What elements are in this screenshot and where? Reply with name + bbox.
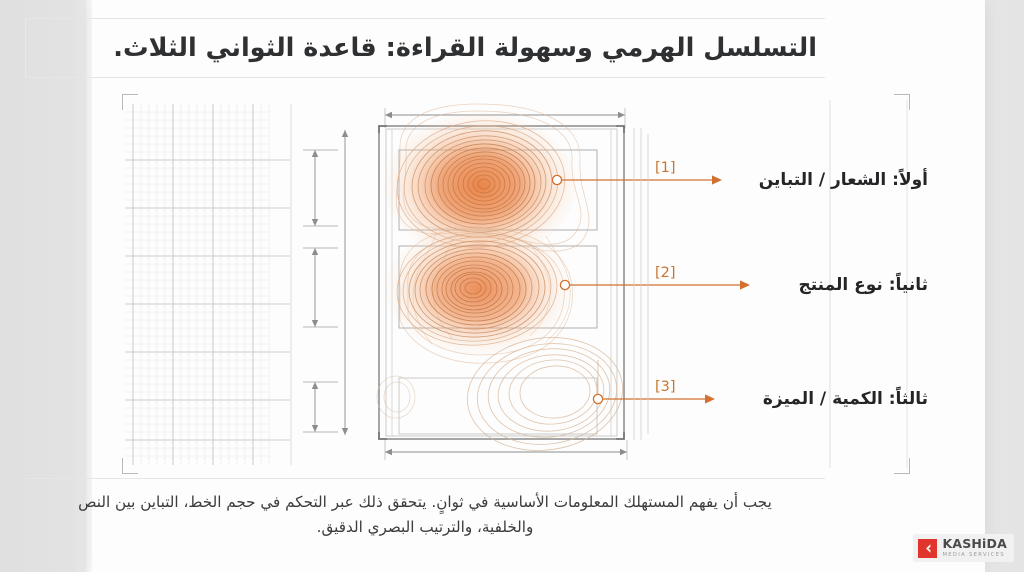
dimension-lines-vertical: [303, 130, 348, 435]
hotspot-2: [385, 223, 572, 363]
leader-lines: [552, 175, 750, 403]
annotation-marker-2: [2]: [655, 265, 676, 281]
logo-text-block: KASHiDA MEDIA SERVICES: [942, 538, 1007, 558]
technical-grid: [125, 104, 291, 465]
annotation-label-1: أولاً: الشعار / التباين: [759, 170, 928, 190]
annotation-marker-1: [1]: [655, 160, 676, 176]
brand-logo: KASHiDA MEDIA SERVICES: [913, 534, 1014, 562]
leader-dot-3: [593, 394, 602, 403]
caption-block: يجب أن يفهم المستهلك المعلومات الأساسية …: [25, 478, 825, 550]
chevron-left-icon: [918, 539, 937, 558]
annotation-marker-3: [3]: [655, 379, 676, 395]
leader-dot-1: [552, 175, 561, 184]
annotation-label-3: ثالثاً: الكمية / الميزة: [763, 389, 928, 409]
logo-subtitle: MEDIA SERVICES: [942, 553, 1007, 558]
annotation-label-2: ثانياً: نوع المنتج: [798, 275, 928, 295]
attention-heatmap: [377, 104, 630, 460]
leader-dot-2: [560, 280, 569, 289]
slide-root: التسلسل الهرمي وسهولة القراءة: قاعدة الث…: [0, 0, 1024, 572]
logo-name: KASHiDA: [942, 538, 1007, 551]
hotspot-minor: [377, 376, 415, 418]
guide-columns: [634, 128, 648, 440]
caption-text: يجب أن يفهم المستهلك المعلومات الأساسية …: [55, 490, 795, 539]
